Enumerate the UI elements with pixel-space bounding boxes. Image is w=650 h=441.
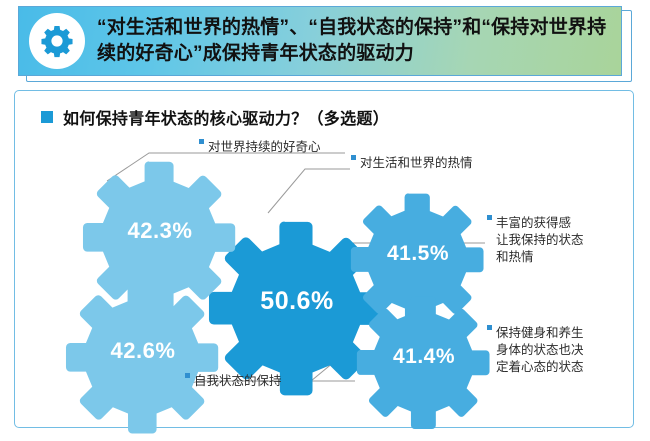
gear-bottom-right: 41.4% bbox=[363, 296, 485, 418]
label-bullet-icon bbox=[487, 325, 492, 330]
label-curiosity-text: 对世界持续的好奇心 bbox=[208, 140, 321, 154]
label-passion-text: 对生活和世界的热情 bbox=[360, 156, 473, 170]
label-fulfillment-line2: 让我保持的状态 bbox=[496, 232, 584, 249]
label-curiosity: 对世界持续的好奇心 bbox=[199, 139, 321, 156]
label-bullet-icon bbox=[185, 373, 190, 378]
header-title: “对生活和世界的热情”、“自我状态的保持”和“保持对世界持续的好奇心”成保持青年… bbox=[97, 15, 609, 66]
header-banner: “对生活和世界的热情”、“自我状态的保持”和“保持对世界持续的好奇心”成保持青年… bbox=[18, 6, 622, 76]
gear-top-left: 42.3% bbox=[90, 161, 230, 301]
label-fitness-line3: 定着心态的状态 bbox=[496, 359, 584, 376]
label-fulfillment-line3: 和热情 bbox=[496, 249, 584, 266]
label-fitness: 保持健身和养生 身体的状态也决 定着心态的状态 bbox=[487, 325, 584, 376]
gear-bottom-left: 42.6% bbox=[73, 281, 213, 421]
label-self-state: 自我状态的保持 bbox=[185, 373, 282, 390]
gear-icon bbox=[29, 13, 85, 69]
gear-diagram: 50.6% 42.3% 42.6% 41.5% bbox=[15, 91, 635, 429]
label-passion: 对生活和世界的热情 bbox=[351, 155, 473, 172]
label-fulfillment-line1: 丰富的获得感 bbox=[496, 215, 584, 232]
content-panel: 如何保持青年状态的核心驱动力？（多选题） 50.6% bbox=[14, 90, 634, 428]
label-bullet-icon bbox=[199, 139, 204, 144]
label-bullet-icon bbox=[351, 155, 356, 160]
label-fitness-line2: 身体的状态也决 bbox=[496, 342, 584, 359]
label-fulfillment: 丰富的获得感 让我保持的状态 和热情 bbox=[487, 215, 584, 266]
label-bullet-icon bbox=[487, 215, 492, 220]
gear-center: 50.6% bbox=[217, 221, 377, 381]
label-fitness-line1: 保持健身和养生 bbox=[496, 325, 584, 342]
label-self-state-text: 自我状态的保持 bbox=[194, 374, 282, 388]
infographic-page: “对生活和世界的热情”、“自我状态的保持”和“保持对世界持续的好奇心”成保持青年… bbox=[0, 0, 650, 441]
